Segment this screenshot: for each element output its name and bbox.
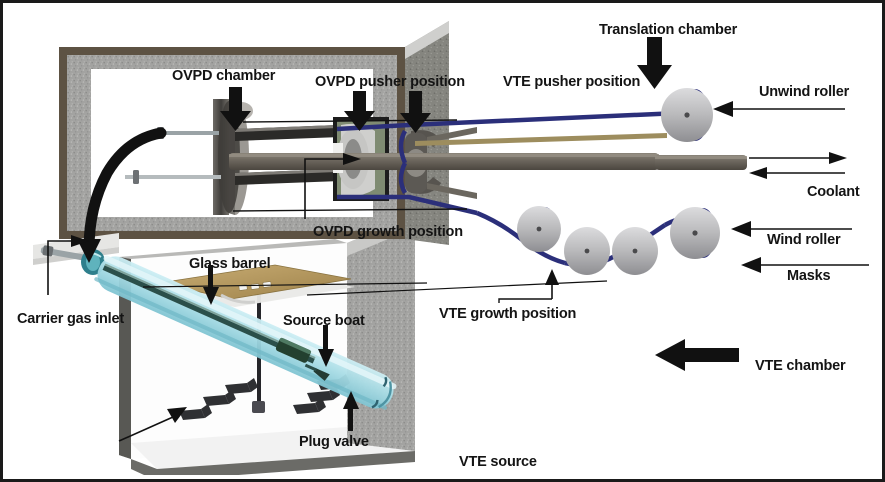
roller-unwind <box>661 88 713 142</box>
label-carrier-gas-inlet: Carrier gas inlet <box>17 312 124 328</box>
label-vte-source: VTE source <box>459 455 537 471</box>
label-wind-roller: Wind roller <box>767 233 840 249</box>
label-vte-chamber: VTE chamber <box>755 359 845 375</box>
label-source-boat: Source boat <box>283 314 365 330</box>
arrow-unwind-roller <box>713 101 845 117</box>
label-translation-chamber: Translation chamber <box>599 23 737 39</box>
arrow-translation-chamber <box>637 37 672 89</box>
label-masks: Masks <box>787 269 830 285</box>
figure-frame: OVPD chamber OVPD pusher position VTE pu… <box>0 0 885 482</box>
coolant-shaft <box>229 153 747 170</box>
arrow-coolant <box>749 152 847 179</box>
label-ovpd-chamber: OVPD chamber <box>172 69 275 85</box>
guide-roller-1 <box>517 206 561 252</box>
label-vte-growth-position: VTE growth position <box>439 307 576 323</box>
roller-wind <box>670 207 720 259</box>
label-ovpd-growth-position: OVPD growth position <box>313 225 463 241</box>
guide-roller-3 <box>612 227 658 275</box>
label-ovpd-pusher-position: OVPD pusher position <box>315 75 465 91</box>
label-plug-valve: Plug valve <box>299 435 369 451</box>
label-glass-barrel: Glass barrel <box>189 257 270 273</box>
label-unwind-roller: Unwind roller <box>759 85 849 101</box>
arrow-vte-chamber <box>655 339 739 371</box>
figure-canvas: OVPD chamber OVPD pusher position VTE pu… <box>7 7 878 475</box>
guide-roller-2 <box>564 227 610 275</box>
label-vte-pusher-position: VTE pusher position <box>503 75 640 91</box>
label-coolant: Coolant <box>807 185 860 201</box>
